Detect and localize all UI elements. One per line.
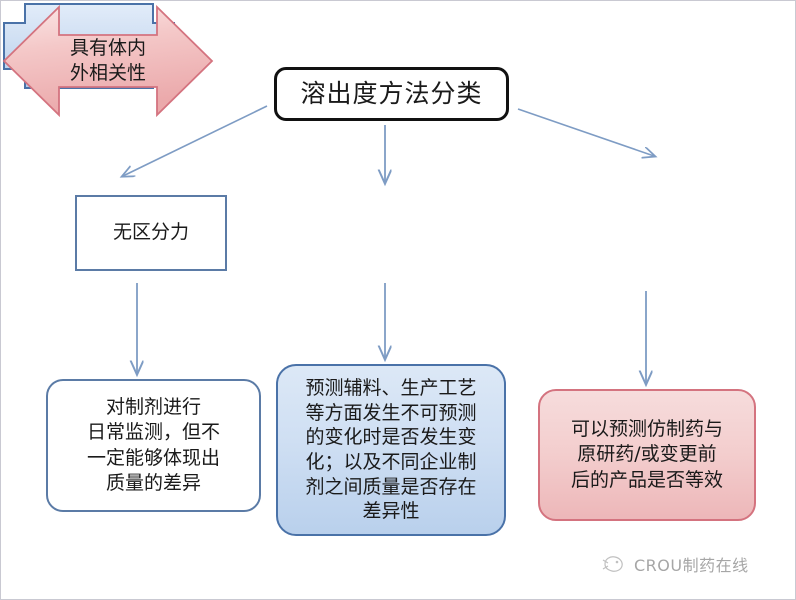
node-predict-change[interactable]: 预测辅料、生产工艺 等方面发生不可预测 的变化时是否发生变 化；以及不同企业制 …	[276, 364, 506, 536]
node-bioequivalence[interactable]: 可以预测仿制药与 原研药/或变更前 后的产品是否等效	[538, 389, 756, 521]
edge-title-to-ivivc	[518, 109, 654, 156]
watermark: CROU制药在线	[601, 549, 781, 579]
diagram-canvas: 溶出度方法分类 无区分力 有区分力	[0, 0, 796, 600]
bird-logo-icon	[601, 553, 627, 575]
node-routine-monitoring[interactable]: 对制剂进行 日常监测，但不 一定能够体现出 质量的差异	[46, 379, 261, 512]
node-ivivc-label: 具有体内 外相关性	[1, 1, 215, 121]
node-ivivc[interactable]: 具有体内 外相关性	[1, 91, 215, 211]
node-no-discrimination[interactable]: 无区分力	[75, 195, 227, 271]
watermark-text: CROU制药在线	[634, 552, 749, 576]
node-title[interactable]: 溶出度方法分类	[274, 67, 509, 121]
